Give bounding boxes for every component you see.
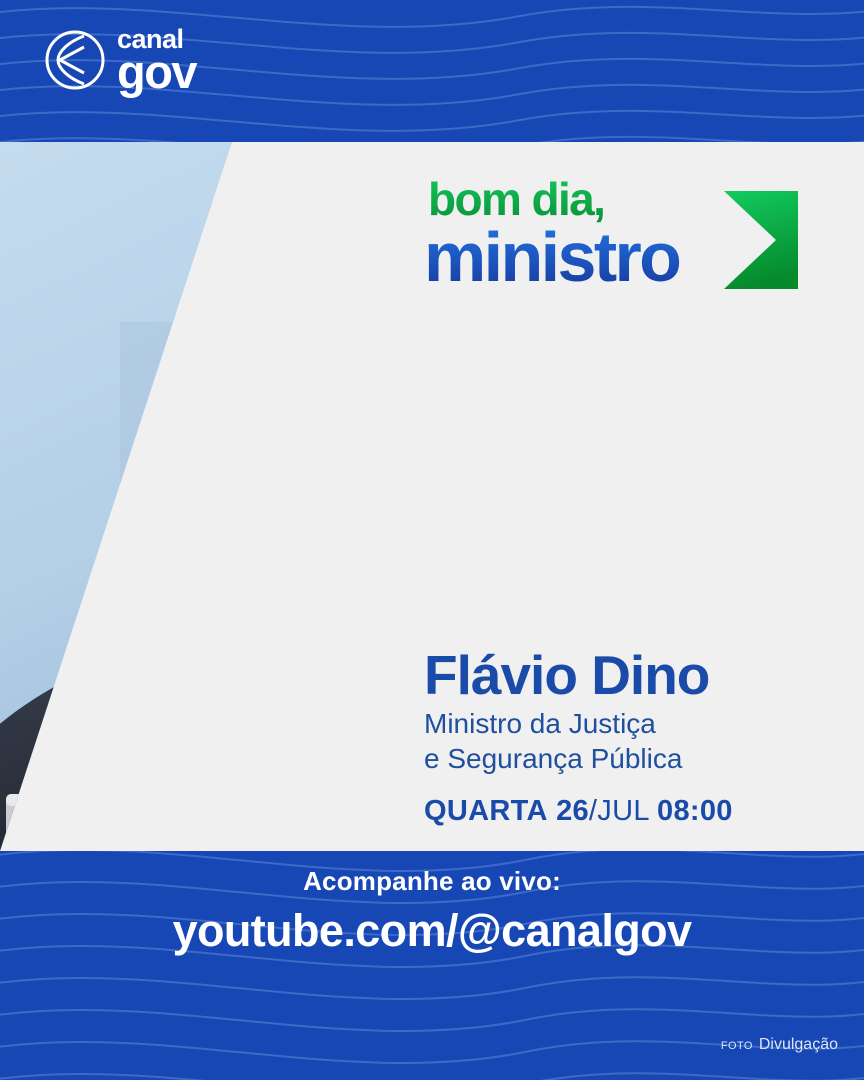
canal-gov-circle-icon bbox=[44, 29, 106, 91]
speaker-role-line2: e Segurança Pública bbox=[424, 741, 824, 776]
promo-poster: canal gov bbox=[0, 0, 864, 1080]
green-chevron-arrow-icon bbox=[724, 191, 798, 289]
header-band: canal gov bbox=[0, 0, 864, 142]
broadcast-weekday: QUARTA bbox=[424, 795, 548, 827]
speaker-name: Flávio Dino bbox=[424, 647, 824, 704]
broadcast-day: 26 bbox=[556, 795, 589, 827]
broadcast-datetime: QUARTA 26/JUL 08:00 bbox=[424, 795, 824, 828]
speaker-info: Flávio Dino Ministro da Justiça e Segura… bbox=[424, 647, 824, 828]
program-title-lockup: bom dia, ministro bbox=[424, 169, 820, 317]
broadcast-month: JUL bbox=[597, 795, 648, 827]
speaker-role-line1: Ministro da Justiça bbox=[424, 706, 824, 741]
cta-block: Acompanhe ao vivo: youtube.com/@canalgov bbox=[0, 866, 864, 957]
cta-youtube-url[interactable]: youtube.com/@canalgov bbox=[0, 905, 864, 957]
photo-credit: FOTO Divulgação bbox=[721, 1036, 838, 1054]
content-area: bom dia, ministro Flávio Dino Ministro d… bbox=[0, 142, 864, 851]
broadcast-time: 08:00 bbox=[657, 795, 733, 827]
footer-band: Acompanhe ao vivo: youtube.com/@canalgov… bbox=[0, 851, 864, 1080]
canal-gov-logo[interactable]: canal gov bbox=[44, 28, 196, 91]
canal-gov-wordmark: canal gov bbox=[117, 28, 196, 91]
logo-gov-text: gov bbox=[117, 52, 196, 91]
cta-prompt: Acompanhe ao vivo: bbox=[0, 866, 864, 897]
program-title-svg: bom dia, ministro bbox=[424, 169, 820, 317]
photo-credit-value: Divulgação bbox=[759, 1036, 838, 1054]
program-title-line2: ministro bbox=[424, 218, 680, 296]
photo-credit-label: FOTO bbox=[721, 1040, 753, 1052]
